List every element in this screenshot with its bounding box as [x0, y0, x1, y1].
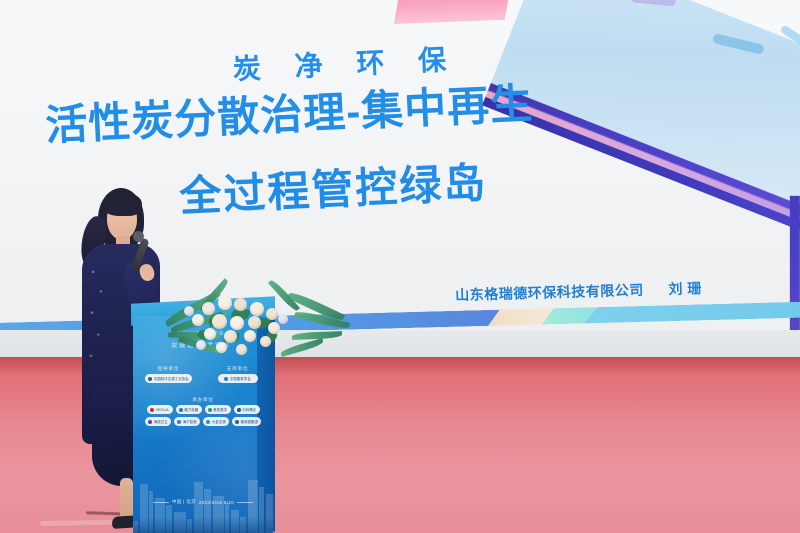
sponsor-chip: 美的楼宇: [205, 405, 231, 414]
sponsor-chip: 中国制冷空调工业协会: [145, 374, 191, 383]
flower-bloom: [244, 330, 256, 342]
flower-bloom: [216, 342, 227, 353]
sponsor-name: 中国建筑学会: [230, 376, 251, 381]
sponsor-name: 大金空调: [212, 419, 226, 424]
slide-byline: 山东格瑞德环保科技有限公司 刘 珊: [455, 278, 702, 305]
sponsor-logo-dot: [237, 408, 241, 412]
podium-section-guiding: 指导单位 中国制冷空调工业协会 支持单位 中国建筑学会: [137, 366, 269, 383]
slide-title-line1: 活性炭分散治理-集中再生: [44, 70, 534, 153]
sponsor-name: VEOLIA: [156, 408, 169, 412]
sponsor-logo-dot: [150, 408, 154, 412]
sponsor-logo-dot: [224, 377, 228, 381]
byline-company: 山东格瑞德环保科技有限公司: [455, 282, 644, 303]
flower-bloom: [224, 330, 237, 343]
sponsor-chip: 格瑞德集团: [232, 417, 261, 426]
sponsor-name: 中科曙光: [242, 407, 256, 412]
flower-bloom: [196, 340, 206, 350]
sponsor-chip: 中科曙光: [234, 405, 260, 414]
flower-bloom: [234, 298, 247, 311]
sponsor-chip: 海尔智家: [174, 417, 200, 426]
sponsor-chip: VEOLIA: [147, 405, 173, 414]
sponsor-chip: 大金空调: [203, 417, 229, 426]
flower-bloom: [236, 344, 247, 355]
sponsor-row-support: 中国建筑学会: [206, 374, 269, 383]
flower-bloom: [202, 302, 215, 315]
flower-bloom: [278, 314, 288, 324]
sponsor-chip: 海信日立: [145, 417, 171, 426]
podium-section-organizers: 承办单位 VEOLIA 格力电器 美的楼宇 中科曙光 海信日立 海尔智家 大金空…: [137, 397, 269, 426]
flower-bloom: [248, 316, 261, 329]
sponsor-name: 中国制冷空调工业协会: [154, 376, 189, 381]
sponsor-row-guiding: 中国制冷空调工业协会: [137, 374, 200, 383]
sponsor-chip: 中国建筑学会: [218, 374, 258, 383]
sponsor-chip: 格力电器: [176, 405, 202, 414]
flower-bloom: [266, 308, 278, 320]
palm-frond: [280, 338, 324, 357]
byline-speaker: 刘 珊: [668, 280, 702, 297]
sponsor-name: 格力电器: [184, 407, 198, 412]
flower-bloom: [268, 322, 280, 334]
conference-photo: 00 炭 净 环 保 活性炭分散治理-集中再生 全过程管控绿岛 山东格瑞德环保科…: [0, 0, 800, 533]
sponsor-row-organizers: VEOLIA 格力电器 美的楼宇 中科曙光 海信日立 海尔智家 大金空调 格瑞德…: [137, 405, 269, 426]
sponsor-logo-dot: [148, 420, 152, 424]
section-label-guiding: 指导单位: [137, 366, 200, 372]
fringe: [103, 192, 142, 216]
sponsor-logo-dot: [148, 377, 152, 381]
flower-bloom: [230, 316, 244, 330]
sponsor-logo-dot: [208, 408, 212, 412]
sponsor-logo-dot: [206, 420, 210, 424]
sponsor-logo-dot: [179, 408, 183, 412]
band-segment-cyan: [584, 301, 800, 323]
flower-bloom: [218, 296, 232, 310]
sponsor-logo-dot: [235, 420, 239, 424]
floral-arrangement: [168, 258, 320, 363]
sponsor-name: 海信日立: [154, 419, 168, 424]
sponsor-name: 海尔智家: [183, 419, 197, 424]
sponsor-name: 美的楼宇: [213, 407, 227, 412]
section-label-organizers: 承办单位: [137, 397, 269, 403]
flower-bloom: [192, 314, 204, 326]
flower-bloom: [184, 306, 194, 316]
flower-bloom: [212, 314, 227, 329]
slide-title-line2: 全过程管控绿岛: [178, 149, 488, 224]
flower-bloom: [204, 328, 216, 340]
section-label-support: 支持单位: [206, 366, 269, 372]
flower-bloom: [260, 336, 271, 347]
sponsor-logo-dot: [177, 420, 181, 424]
sponsor-name: 格瑞德集团: [241, 419, 258, 424]
flower-bloom: [250, 302, 264, 316]
podium-bottom-shade: [133, 517, 273, 533]
